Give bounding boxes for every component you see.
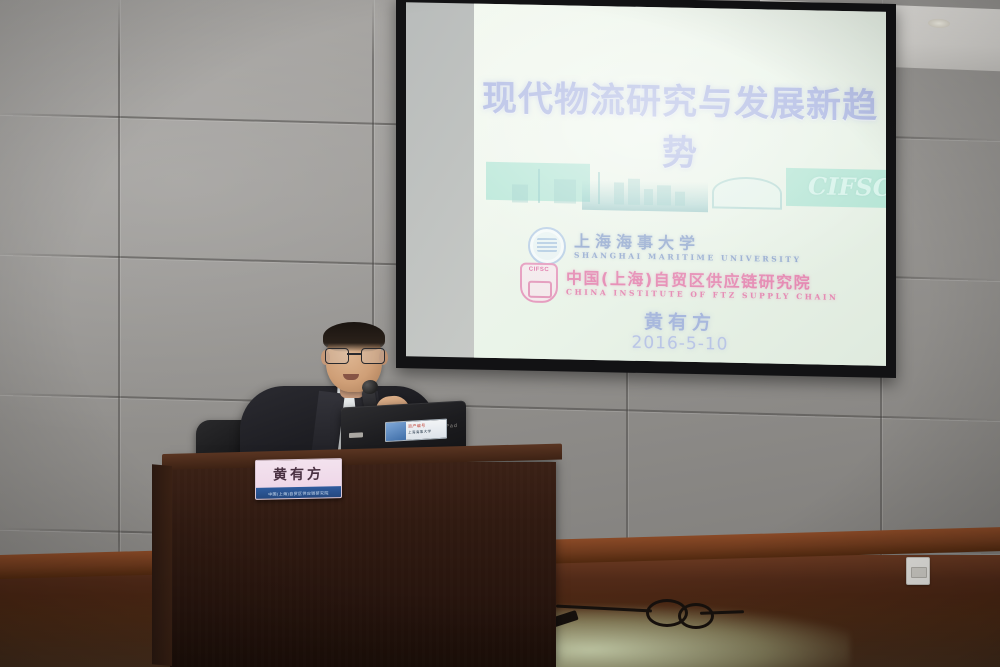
- oriental-pearl-tower-icon: [598, 172, 600, 204]
- presentation-slide: 现代物流研究与发展新趋势 CIFSC: [474, 4, 886, 366]
- wood-grain: [170, 462, 556, 667]
- thinkpad-logo-icon: [349, 432, 363, 438]
- building-silhouette: [675, 192, 685, 206]
- building-silhouette: [644, 189, 653, 205]
- building-silhouette: [628, 179, 640, 205]
- org-name-en: SHANGHAI MARITIME UNIVERSITY: [574, 252, 802, 264]
- building-silhouette: [614, 182, 624, 204]
- building-silhouette: [657, 185, 671, 205]
- nameplate-name: 黄有方: [256, 463, 341, 485]
- sticker-line-2: 上海海事大学: [408, 429, 431, 435]
- presentation-photo: 现代物流研究与发展新趋势 CIFSC: [0, 0, 1000, 667]
- shield-badge-text: CIFSC: [522, 267, 556, 274]
- slide-banner-strip: CIFSC: [486, 162, 876, 216]
- lens: [325, 348, 349, 364]
- sticker-text-block: 资产编号 上海海事大学: [406, 420, 446, 440]
- org-row-institute: CIFSC 中国(上海)自贸区供应链研究院 CHINA INSTITUTE OF…: [520, 262, 838, 308]
- tv-tower-icon: [538, 169, 540, 203]
- building-silhouette: [554, 179, 576, 203]
- ceiling-light-icon: [928, 18, 950, 28]
- org-text: 上海海事大学 SHANGHAI MARITIME UNIVERSITY: [574, 233, 802, 264]
- sticker-logo-block: [386, 422, 406, 441]
- building-silhouette: [512, 184, 528, 202]
- org-text: 中国(上海)自贸区供应链研究院 CHINA INSTITUTE OF FTZ S…: [566, 270, 838, 302]
- projection-screen-frame: 现代物流研究与发展新趋势 CIFSC: [396, 0, 896, 378]
- eyeglasses-icon: [325, 348, 383, 363]
- glasses-bridge: [347, 353, 361, 355]
- laptop-asset-sticker: 资产编号 上海海事大学: [385, 419, 447, 442]
- floor-cable: [678, 603, 714, 629]
- wall-outlet-icon: [906, 557, 930, 585]
- wall-seam-vertical: [118, 0, 120, 600]
- cifsc-shield-icon: CIFSC: [520, 262, 558, 303]
- banner-cifsc-mark: CIFSC: [808, 171, 886, 202]
- sticker-line-1: 资产编号: [408, 423, 426, 430]
- projection-screen-surface: 现代物流研究与发展新趋势 CIFSC: [406, 2, 886, 366]
- podium: [170, 462, 556, 667]
- university-seal-icon: [528, 227, 566, 266]
- expo-pavilion-icon: [712, 176, 782, 209]
- lens: [361, 348, 385, 364]
- slide-organizations: 上海海事大学 SHANGHAI MARITIME UNIVERSITY CIFS…: [474, 4, 886, 12]
- podium-side-panel: [152, 464, 172, 666]
- desk-nameplate: 黄有方 中国(上海)自贸区供应链研究院: [255, 458, 342, 500]
